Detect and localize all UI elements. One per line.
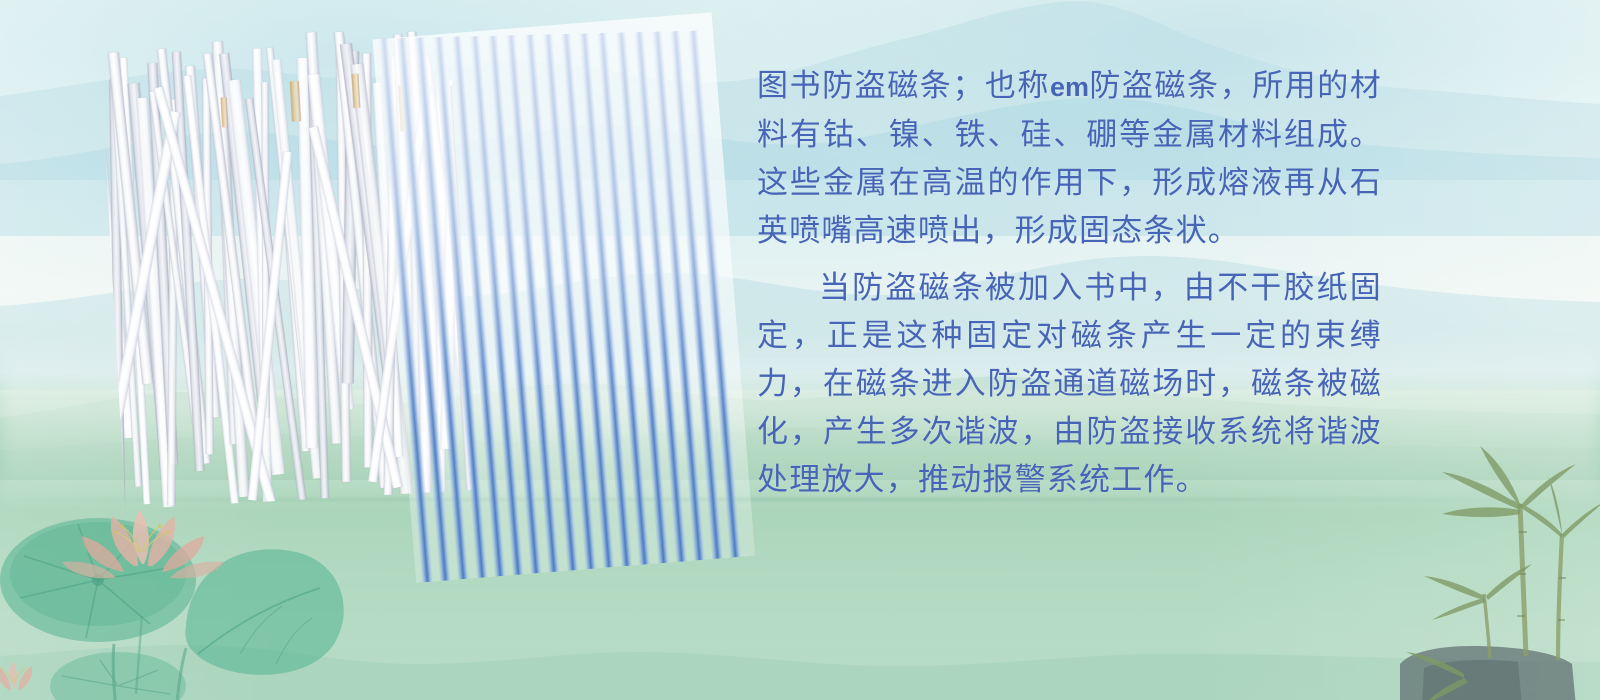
paragraph-2: 当防盗磁条被加入书中，由不干胶纸固定，正是这种固定对磁条产生一定的束缚力，在磁条… bbox=[757, 264, 1382, 504]
photo-blue-strips bbox=[373, 12, 756, 583]
description-text-block: 图书防盗磁条；也称em防盗磁条，所用的材料有钴、镍、铁、硅、硼等金属材料组成。这… bbox=[757, 62, 1382, 504]
paragraph-1-latin: em bbox=[1050, 72, 1089, 102]
paragraph-1-before: 图书防盗磁条；也称 bbox=[757, 68, 1050, 103]
page-root: 图书防盗磁条；也称em防盗磁条，所用的材料有钴、镍、铁、硅、硼等金属材料组成。这… bbox=[0, 0, 1600, 700]
paragraph-1: 图书防盗磁条；也称em防盗磁条，所用的材料有钴、镍、铁、硅、硼等金属材料组成。这… bbox=[757, 62, 1382, 255]
